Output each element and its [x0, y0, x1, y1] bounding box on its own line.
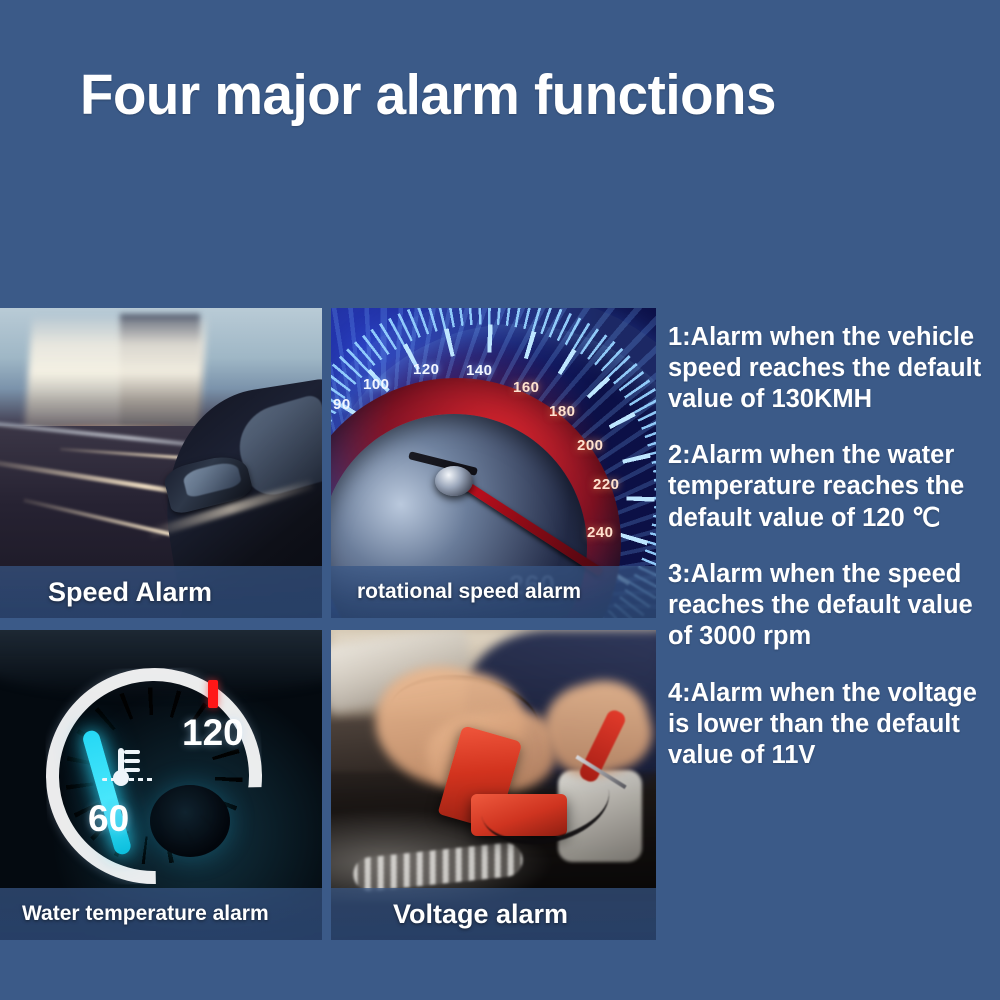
speedometer-tick-label: 100	[363, 376, 390, 393]
caption-rotational-speed-alarm: rotational speed alarm	[331, 580, 581, 604]
redline-marker	[208, 680, 218, 708]
caption-water-temperature-alarm: Water temperature alarm	[0, 902, 269, 926]
caption-speed-alarm: Speed Alarm	[0, 577, 212, 608]
gauge-hub	[150, 785, 230, 857]
speedometer-tick-label: 120	[413, 361, 440, 378]
speedometer-tick-label: 240	[587, 524, 614, 541]
alarm-description-4: 4:Alarm when the voltage is lower than t…	[668, 678, 998, 771]
page-title: Four major alarm functions	[80, 62, 776, 128]
alarm-description-3: 3:Alarm when the speed reaches the defau…	[668, 559, 998, 652]
truck-trailer-shape	[24, 318, 207, 436]
speedometer-tick-label: 160	[513, 379, 540, 396]
speedometer-tick-label: 200	[577, 437, 604, 454]
coolant-temperature-icon	[102, 748, 164, 790]
alarm-panel-grid: Speed Alarm 9010012014016018020022024026…	[0, 308, 656, 940]
panel-voltage-alarm[interactable]: Voltage alarm	[331, 630, 656, 940]
caption-bar-speed-alarm: Speed Alarm	[0, 566, 322, 618]
alarm-description-list: 1:Alarm when the vehicle speed reaches t…	[668, 296, 998, 771]
caption-bar-water-temperature-alarm: Water temperature alarm	[0, 888, 322, 940]
panel-speed-alarm[interactable]: Speed Alarm	[0, 308, 322, 618]
panel-rotational-speed-alarm[interactable]: 90100120140160180200220240260 rotational…	[331, 308, 656, 618]
needle-hub	[435, 466, 473, 496]
speedometer-tick-label: 90	[333, 396, 351, 413]
panel-water-temperature-alarm[interactable]: 120 60 Water temperature alarm	[0, 630, 322, 940]
speedometer-tick-label: 220	[593, 476, 620, 493]
caption-bar-rotational-speed-alarm: rotational speed alarm	[331, 566, 656, 618]
speedometer-tick-label: 140	[466, 362, 493, 379]
gauge-label-high: 120	[182, 712, 244, 754]
alarm-description-1: 1:Alarm when the vehicle speed reaches t…	[668, 322, 998, 415]
gauge-label-low: 60	[88, 798, 129, 840]
alarm-description-2: 2:Alarm when the water temperature reach…	[668, 440, 998, 533]
caption-voltage-alarm: Voltage alarm	[331, 899, 568, 930]
caption-bar-voltage-alarm: Voltage alarm	[331, 888, 656, 940]
speedometer-tick-label: 180	[549, 403, 576, 420]
